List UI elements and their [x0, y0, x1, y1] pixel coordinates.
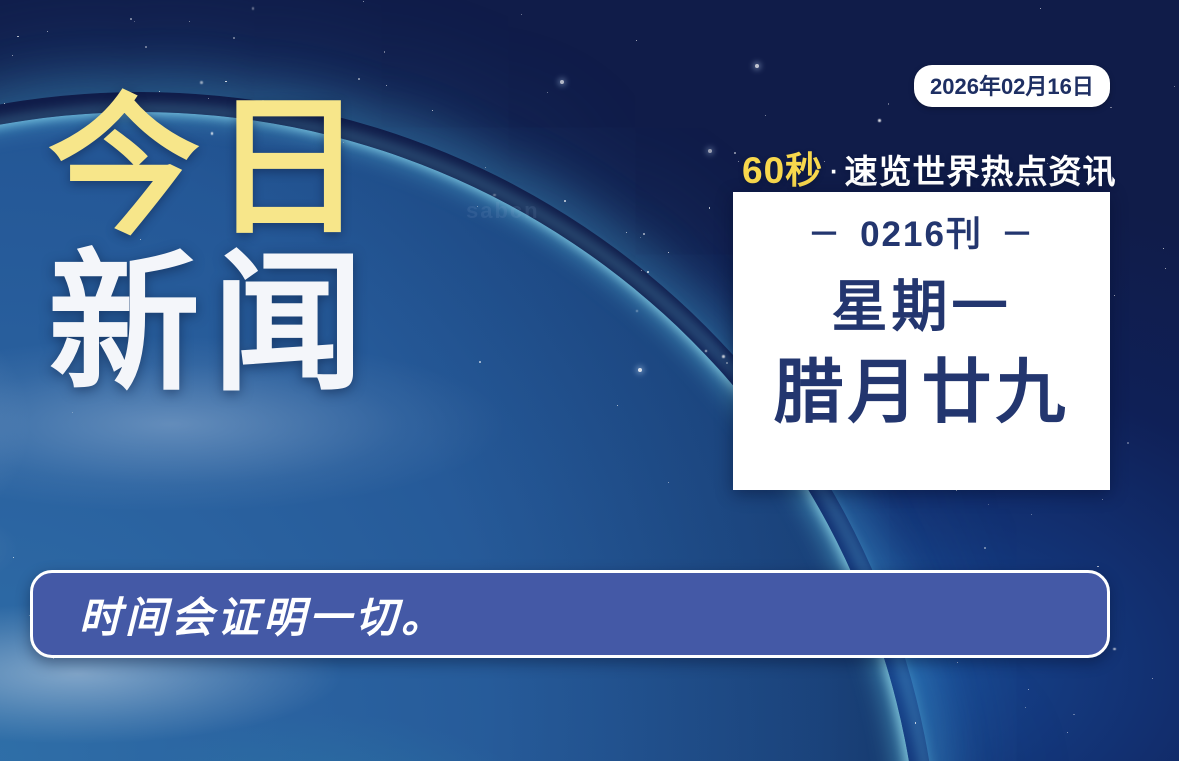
tagline-separator: ·: [830, 158, 839, 186]
issue-number: 0216刊: [860, 206, 983, 257]
tagline-description: 速览世界热点资讯: [844, 153, 1116, 190]
issue-info-card: － 0216刊 － 星期一 腊月廿九: [733, 192, 1110, 490]
issue-dash-left: －: [808, 209, 842, 255]
masthead-line-today: 今日: [48, 96, 468, 240]
date-badge: 2026年02月16日: [914, 65, 1110, 107]
masthead-line-news: 新闻: [48, 252, 468, 396]
lunar-date-label: 腊月廿九: [774, 357, 1070, 427]
issue-row: － 0216刊 －: [808, 206, 1035, 257]
masthead: 今日 新闻: [48, 96, 468, 397]
watermark-text: sabcn: [466, 198, 540, 224]
quote-text: 时间会证明一切。: [79, 584, 447, 645]
quote-banner: 时间会证明一切。: [30, 570, 1110, 658]
tagline: 60秒·速览世界热点资讯: [742, 140, 1116, 194]
issue-dash-right: －: [1001, 209, 1035, 255]
tagline-seconds: 60秒: [742, 150, 823, 191]
weekday-label: 星期一: [832, 279, 1012, 335]
news-poster: sabcn 今日 新闻 2026年02月16日 60秒·速览世界热点资讯 － 0…: [0, 0, 1179, 761]
